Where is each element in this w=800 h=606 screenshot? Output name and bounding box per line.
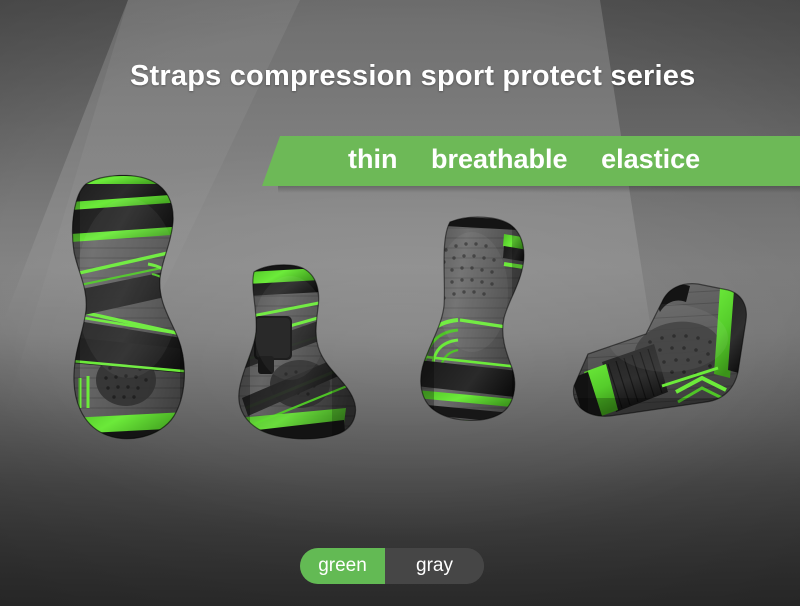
- color-option-green[interactable]: green: [300, 548, 385, 584]
- color-selector[interactable]: green gray: [300, 548, 484, 584]
- feature-list: thin breathable elastice: [348, 144, 700, 175]
- page-title: Straps compression sport protect series: [130, 60, 695, 93]
- feature-ribbon-shadow: [278, 186, 800, 193]
- product-banner: Straps compression sport protect series …: [0, 0, 800, 606]
- feature-elastice: elastice: [601, 144, 700, 174]
- feature-breathable: breathable: [431, 144, 568, 174]
- feature-thin: thin: [348, 144, 397, 174]
- color-option-gray[interactable]: gray: [385, 548, 484, 584]
